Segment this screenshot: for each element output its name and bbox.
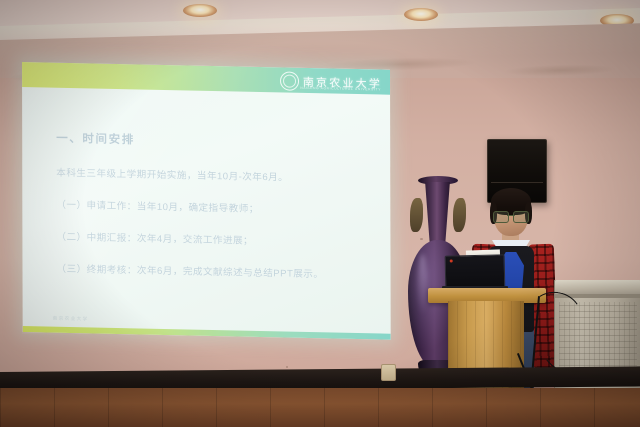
speaker-seam xyxy=(491,182,543,183)
slide-line-item-3: （三）终期考核：次年6月，完成文献综述与总结PPT展示。 xyxy=(57,261,391,282)
wall-power-outlet xyxy=(381,364,396,381)
glasses-icon xyxy=(493,211,529,221)
downlight-1 xyxy=(183,4,217,17)
vase-handle-right xyxy=(453,198,466,232)
laptop-indicator-light xyxy=(450,259,453,262)
projected-slide: 南京农业大学 NANJING AGRICULTURAL UNIVERSITY 一… xyxy=(22,62,391,340)
university-seal-icon xyxy=(280,71,299,90)
vase-neck xyxy=(422,182,453,248)
vase-handle-left xyxy=(410,198,423,232)
floor xyxy=(0,388,640,427)
glasses-lens-right xyxy=(513,211,529,223)
wall-speck xyxy=(286,366,288,368)
slide-body: 一、时间安排 本科生三年级上学期开始实施，当年10月-次年6月。 （一）申请工作… xyxy=(22,87,391,334)
cabinet-top-panel xyxy=(555,280,640,295)
slide-line-item-1: （一）申请工作：当年10月，确定指导教师； xyxy=(56,197,390,218)
slide-title: 一、时间安排 xyxy=(56,130,390,153)
glasses-lens-left xyxy=(493,211,509,223)
lecture-room-photo: 南京农业大学 NANJING AGRICULTURAL UNIVERSITY 一… xyxy=(0,0,640,427)
downlight-2 xyxy=(404,8,438,21)
slide-line-item-2: （二）中期汇报：次年4月，交流工作进展； xyxy=(56,229,390,250)
vase-highlight xyxy=(418,254,427,316)
slide-line-intro: 本科生三年级上学期开始实施，当年10月-次年6月。 xyxy=(56,165,390,186)
slide-footer: 南京农业大学 xyxy=(53,316,89,323)
